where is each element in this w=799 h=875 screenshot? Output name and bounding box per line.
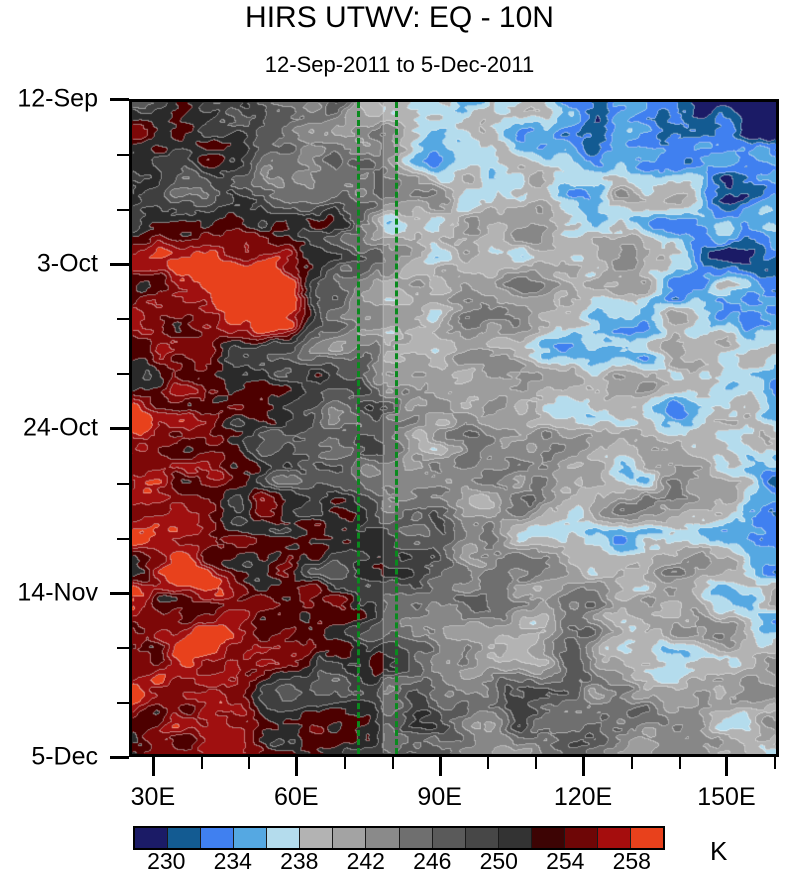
x-axis-minor-tick [344,757,346,769]
x-axis-tick-label: 120E [554,783,612,812]
contour-canvas [132,102,776,754]
x-axis-tick-label: 60E [274,783,318,812]
y-axis-minor-tick [117,538,129,540]
colorbar-tick-label: 242 [347,848,385,875]
y-axis-major-tick [110,263,129,266]
x-axis-minor-tick [392,757,394,769]
x-axis-major-tick [152,757,155,776]
y-axis-tick-label: 14-Nov [17,578,98,607]
x-axis-tick-label: 150E [697,783,755,812]
x-axis-major-tick [725,757,728,776]
colorbar-cell [630,828,663,848]
colorbar-tick-label: 230 [147,848,185,875]
y-axis-minor-tick [117,647,129,649]
x-axis-minor-tick [201,757,203,769]
colorbar-cell [299,828,332,848]
colorbar-tick-label: 254 [546,848,584,875]
y-axis-minor-tick [117,318,129,320]
x-axis-minor-tick [774,757,776,769]
y-axis-major-tick [110,592,129,595]
colorbar-tick-label: 234 [214,848,252,875]
colorbar-cell [465,828,498,848]
y-axis-tick-label: 12-Sep [17,85,98,114]
colorbar [133,826,665,850]
x-axis-minor-tick [679,757,681,769]
figure-subtitle: 12-Sep-2011 to 5-Dec-2011 [0,52,799,78]
colorbar-cell [498,828,531,848]
colorbar-cell [432,828,465,848]
hovmoller-plot-area [129,99,779,757]
page-title: HIRS UTWV: EQ - 10N [0,1,799,35]
colorbar-cell [365,828,398,848]
colorbar-tick-label: 258 [613,848,651,875]
y-axis-tick-label: 24-Oct [23,414,98,443]
figure-root: HIRS UTWV: EQ - 10N 12-Sep-2011 to 5-Dec… [0,0,799,869]
x-axis-tick-label: 30E [131,783,175,812]
colorbar-cell [200,828,233,848]
colorbar-cell [531,828,564,848]
colorbar-tick-label: 238 [280,848,318,875]
y-axis-major-tick [110,756,129,759]
y-axis-minor-tick [117,483,129,485]
colorbar-cell [135,828,167,848]
colorbar-cell [564,828,597,848]
y-axis-tick-label: 5-Dec [31,743,98,772]
x-axis-major-tick [439,757,442,776]
y-axis-major-tick [110,98,129,101]
y-axis-minor-tick [117,209,129,211]
contour-field [132,102,776,754]
colorbar-cell [233,828,266,848]
vertical-guide-line-2 [395,102,398,754]
x-axis-major-tick [295,757,298,776]
colorbar-tick-label: 246 [413,848,451,875]
colorbar-cell [399,828,432,848]
x-axis-minor-tick [631,757,633,769]
x-axis-major-tick [582,757,585,776]
y-axis-tick-label: 3-Oct [37,249,98,278]
colorbar-cell [167,828,200,848]
y-axis-minor-tick [117,373,129,375]
colorbar-unit-label: K [710,836,727,867]
colorbar-cell [332,828,365,848]
x-axis-minor-tick [248,757,250,769]
x-axis-tick-label: 90E [417,783,461,812]
y-axis-major-tick [110,427,129,430]
y-axis-minor-tick [117,702,129,704]
colorbar-cell [266,828,299,848]
colorbar-tick-label: 250 [480,848,518,875]
x-axis-minor-tick [535,757,537,769]
vertical-guide-line-1 [357,102,360,754]
y-axis-minor-tick [117,154,129,156]
x-axis-minor-tick [487,757,489,769]
colorbar-cell [597,828,630,848]
